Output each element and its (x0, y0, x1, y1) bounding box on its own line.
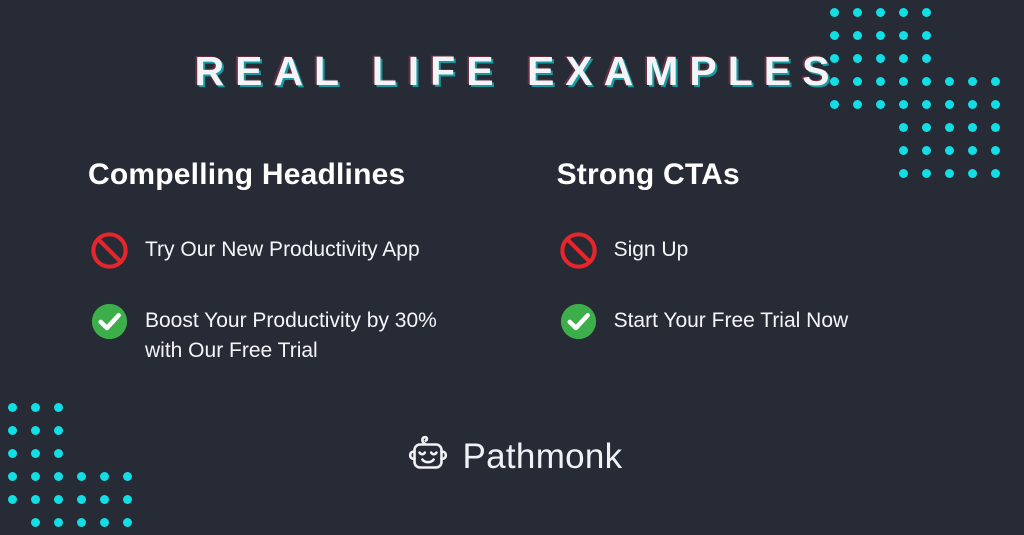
decorative-dot (991, 123, 1000, 132)
decorative-dot (8, 495, 17, 504)
slide-canvas: REAL LIFE EXAMPLES Compelling Headlines … (0, 0, 1024, 535)
decorative-dot (876, 31, 885, 40)
decorative-dot (853, 100, 862, 109)
decorative-dot (968, 146, 977, 155)
decorative-dot (100, 495, 109, 504)
decorative-dot (853, 8, 862, 17)
pathmonk-robot-icon (402, 430, 454, 482)
list-item-label: Try Our New Productivity App (145, 229, 420, 265)
decorative-dot (945, 146, 954, 155)
decorative-dot (945, 123, 954, 132)
list-item-label: Boost Your Productivity by 30% with Our … (145, 300, 475, 366)
list-item: Try Our New Productivity App (88, 229, 537, 272)
decorative-dot (8, 403, 17, 412)
decorative-dot (123, 518, 132, 527)
decorative-dot (31, 518, 40, 527)
list-item: Sign Up (557, 229, 964, 272)
decorative-dot (31, 403, 40, 412)
decorative-dot (945, 100, 954, 109)
decorative-dot (54, 495, 63, 504)
decorative-dot (100, 518, 109, 527)
decorative-dot (876, 8, 885, 17)
decorative-dot (876, 100, 885, 109)
decorative-dot (991, 146, 1000, 155)
decorative-dot (899, 100, 908, 109)
decorative-dot (922, 100, 931, 109)
decorative-dot (77, 495, 86, 504)
decorative-dot (968, 100, 977, 109)
decorative-dot (922, 8, 931, 17)
decorative-dot (968, 123, 977, 132)
decorative-dot (123, 495, 132, 504)
check-circle-icon (88, 300, 131, 343)
decorative-dot (899, 123, 908, 132)
decorative-dot (54, 403, 63, 412)
decorative-dot (922, 123, 931, 132)
decorative-dot (899, 31, 908, 40)
list-item-label: Start Your Free Trial Now (614, 300, 849, 336)
decorative-dot (830, 100, 839, 109)
page-title: REAL LIFE EXAMPLES (0, 48, 1024, 95)
column-heading: Compelling Headlines (88, 158, 537, 191)
decorative-dot (922, 146, 931, 155)
decorative-dot (899, 8, 908, 17)
column-strong-ctas: Strong CTAs Sign Up Start You (557, 158, 964, 366)
column-heading: Strong CTAs (557, 158, 964, 191)
list-item: Boost Your Productivity by 30% with Our … (88, 300, 537, 366)
examples-columns: Compelling Headlines Try Our New Product… (0, 158, 1024, 366)
decorative-dot (991, 100, 1000, 109)
footer-brand: Pathmonk (0, 430, 1024, 482)
brand-name: Pathmonk (463, 439, 623, 474)
check-circle-icon (557, 300, 600, 343)
column-compelling-headlines: Compelling Headlines Try Our New Product… (88, 158, 557, 366)
list-item: Start Your Free Trial Now (557, 300, 964, 343)
decorative-dot (853, 31, 862, 40)
prohibited-icon (88, 229, 131, 272)
decorative-dot (830, 8, 839, 17)
decorative-dot (77, 518, 86, 527)
decorative-dot (830, 31, 839, 40)
prohibited-icon (557, 229, 600, 272)
list-item-label: Sign Up (614, 229, 689, 265)
decorative-dot (899, 146, 908, 155)
decorative-dot (31, 495, 40, 504)
decorative-dot (922, 31, 931, 40)
decorative-dot (54, 518, 63, 527)
